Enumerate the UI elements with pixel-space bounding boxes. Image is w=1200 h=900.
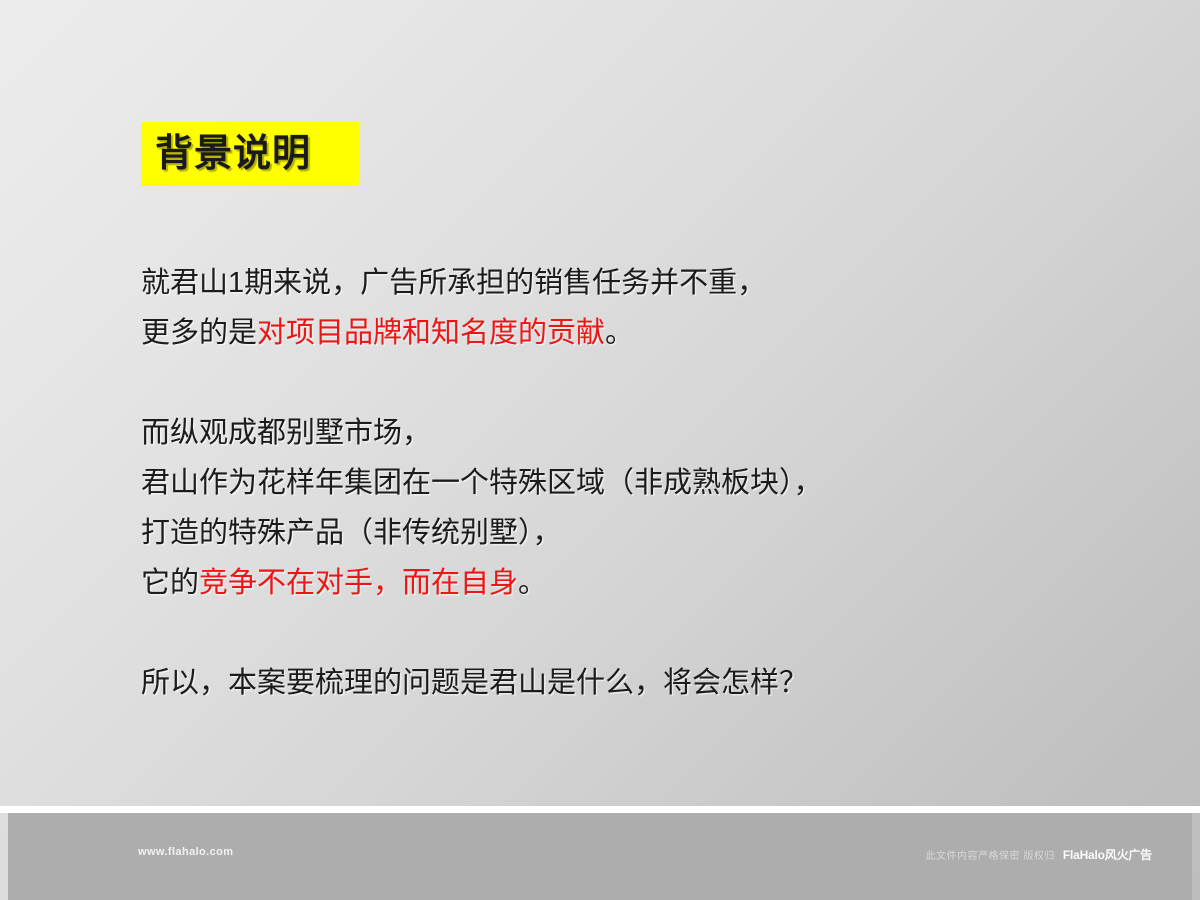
text-line: 所以，本案要梳理的问题是君山是什么，将会怎样？ — [141, 658, 1041, 708]
page-title: 背景说明 — [155, 135, 311, 173]
text-run: 就君山1期来说，广告所承担的销售任务并不重， — [141, 267, 766, 299]
text-run: 君山作为花样年集团在一个特殊区域（非成熟板块）， — [141, 467, 823, 499]
footer-brand-logo: FlaHalo风火广告 — [1063, 846, 1152, 863]
body-copy: 就君山1期来说，广告所承担的销售任务并不重， 更多的是对项目品牌和知名度的贡献。… — [141, 258, 1041, 708]
text-line: 打造的特殊产品（非传统别墅）， — [141, 508, 1041, 558]
text-run-accent: 竞争不在对手，而在自身 — [199, 567, 518, 599]
slide-canvas: 背景说明 就君山1期来说，广告所承担的销售任务并不重， 更多的是对项目品牌和知名… — [0, 0, 1200, 900]
paragraph-2: 而纵观成都别墅市场， 君山作为花样年集团在一个特殊区域（非成熟板块）， 打造的特… — [141, 408, 1041, 608]
paragraph-3: 所以，本案要梳理的问题是君山是什么，将会怎样？ — [141, 658, 1041, 708]
footer-bar: www.flahalo.com 此文件内容严格保密 版权归 FlaHalo风火广… — [8, 813, 1192, 900]
paragraph-1: 就君山1期来说，广告所承担的销售任务并不重， 更多的是对项目品牌和知名度的贡献。 — [141, 258, 1041, 358]
text-line: 而纵观成都别墅市场， — [141, 408, 1041, 458]
text-run-accent: 对项目品牌和知名度的贡献 — [257, 317, 605, 349]
footer-divider — [0, 806, 1200, 813]
text-run: 更多的是 — [141, 317, 257, 349]
text-line: 君山作为花样年集团在一个特殊区域（非成熟板块）， — [141, 458, 1041, 508]
text-line: 就君山1期来说，广告所承担的销售任务并不重， — [141, 258, 1041, 308]
text-run: 所以，本案要梳理的问题是君山是什么，将会怎样？ — [141, 667, 808, 699]
text-run: 。 — [518, 567, 547, 599]
text-run: 。 — [605, 317, 634, 349]
text-run: 而纵观成都别墅市场， — [141, 417, 431, 449]
text-run: 打造的特殊产品（非传统别墅）， — [141, 517, 562, 549]
section-title-highlight: 背景说明 — [141, 122, 359, 186]
footer-confidential-note: 此文件内容严格保密 版权归 — [926, 847, 1055, 862]
text-line: 它的竞争不在对手，而在自身。 — [141, 558, 1041, 608]
footer-website-url[interactable]: www.flahalo.com — [138, 846, 233, 858]
text-run: 它的 — [141, 567, 199, 599]
text-line: 更多的是对项目品牌和知名度的贡献。 — [141, 308, 1041, 358]
footer-copyright: 此文件内容严格保密 版权归 FlaHalo风火广告 — [926, 846, 1152, 863]
